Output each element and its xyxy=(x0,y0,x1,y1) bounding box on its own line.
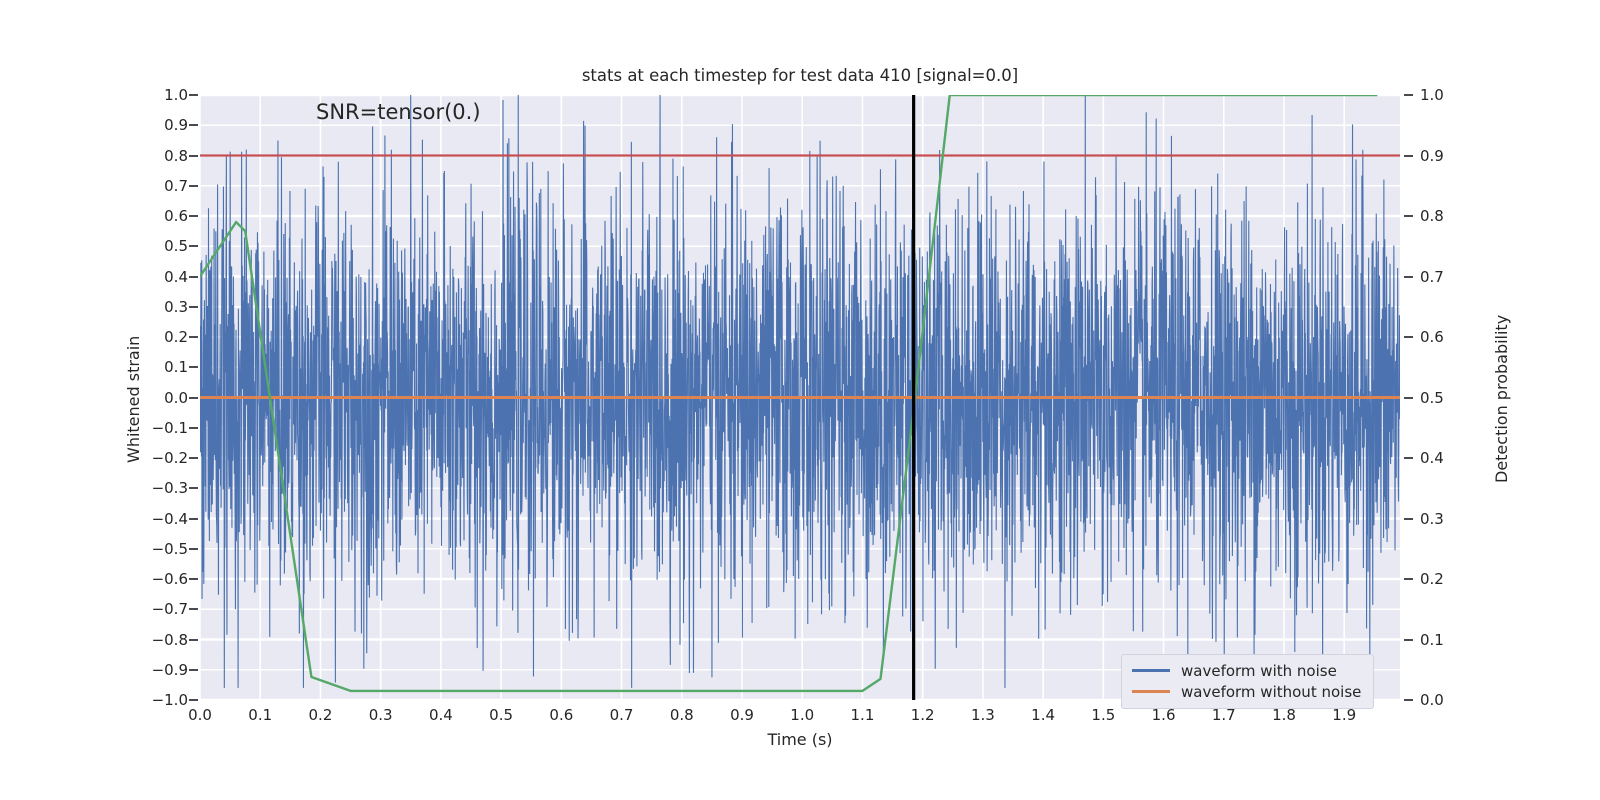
y-tick-mark-left xyxy=(189,306,198,308)
y-tick-mark-right xyxy=(1404,336,1413,338)
y-tick-mark-left xyxy=(189,518,198,520)
y-tick-mark-left xyxy=(189,548,198,550)
y-tick-mark-right xyxy=(1404,155,1413,157)
x-tick-label: 0.4 xyxy=(429,706,453,724)
legend-swatch-icon xyxy=(1132,690,1170,693)
legend-item[interactable]: waveform with noise xyxy=(1132,660,1361,681)
y-tick-label-right: 0.5 xyxy=(1420,389,1444,407)
y-tick-label-right: 0.3 xyxy=(1420,510,1444,528)
y-tick-label-left: −0.4 xyxy=(152,510,188,528)
x-tick-label: 1.3 xyxy=(971,706,995,724)
y-tick-label-right: 0.6 xyxy=(1420,328,1444,346)
y-tick-label-left: 0.0 xyxy=(164,389,188,407)
y-tick-mark-left xyxy=(189,336,198,338)
y-tick-mark-left xyxy=(189,457,198,459)
y-tick-mark-right xyxy=(1404,699,1413,701)
x-tick-label: 0.5 xyxy=(489,706,513,724)
legend-item-label: waveform without noise xyxy=(1181,683,1361,701)
data-layer xyxy=(200,95,1400,700)
y-tick-mark-right xyxy=(1404,518,1413,520)
y-tick-label-left: −0.7 xyxy=(152,600,188,618)
snr-annotation: SNR=tensor(0.) xyxy=(316,100,481,124)
y-tick-label-right: 0.8 xyxy=(1420,207,1444,225)
x-axis-label: Time (s) xyxy=(200,730,1400,749)
y-tick-mark-right xyxy=(1404,276,1413,278)
y-tick-mark-left xyxy=(189,276,198,278)
y-tick-mark-right xyxy=(1404,215,1413,217)
y-tick-mark-left xyxy=(189,245,198,247)
y-tick-label-left: 0.8 xyxy=(164,147,188,165)
y-tick-mark-left xyxy=(189,608,198,610)
y-tick-label-left: 0.7 xyxy=(164,177,188,195)
y-tick-label-left: 0.2 xyxy=(164,328,188,346)
y-tick-mark-right xyxy=(1404,457,1413,459)
y-tick-mark-right xyxy=(1404,94,1413,96)
legend-item[interactable]: waveform without noise xyxy=(1132,681,1361,702)
y-tick-label-left: −0.3 xyxy=(152,479,188,497)
x-tick-label: 0.2 xyxy=(309,706,333,724)
y-tick-mark-right xyxy=(1404,639,1413,641)
plot-area[interactable] xyxy=(200,95,1400,700)
y-tick-mark-left xyxy=(189,366,198,368)
y-tick-label-left: 1.0 xyxy=(164,86,188,104)
y-tick-mark-left xyxy=(189,427,198,429)
y-axis-label-left: Whitened strain xyxy=(124,336,143,463)
y-tick-label-right: 0.0 xyxy=(1420,691,1444,709)
x-tick-label: 1.5 xyxy=(1091,706,1115,724)
figure-canvas: stats at each timestep for test data 410… xyxy=(0,0,1600,800)
x-tick-label: 0.1 xyxy=(248,706,272,724)
y-tick-label-left: −0.5 xyxy=(152,540,188,558)
x-tick-label: 0.8 xyxy=(670,706,694,724)
y-tick-mark-left xyxy=(189,669,198,671)
y-tick-label-left: −0.8 xyxy=(152,631,188,649)
x-tick-label: 0.7 xyxy=(610,706,634,724)
x-tick-label: 0.9 xyxy=(730,706,754,724)
y-tick-mark-left xyxy=(189,185,198,187)
y-tick-label-left: 0.4 xyxy=(164,268,188,286)
y-tick-label-left: −0.1 xyxy=(152,419,188,437)
legend-swatch-icon xyxy=(1132,669,1170,672)
y-tick-mark-left xyxy=(189,124,198,126)
y-tick-mark-left xyxy=(189,215,198,217)
y-tick-mark-left xyxy=(189,397,198,399)
y-tick-mark-right xyxy=(1404,397,1413,399)
y-tick-label-right: 0.7 xyxy=(1420,268,1444,286)
chart-title: stats at each timestep for test data 410… xyxy=(200,66,1400,85)
x-tick-label: 1.2 xyxy=(911,706,935,724)
y-tick-label-left: 0.9 xyxy=(164,116,188,134)
y-tick-label-left: −0.6 xyxy=(152,570,188,588)
y-tick-mark-right xyxy=(1404,578,1413,580)
x-tick-label: 0.0 xyxy=(188,706,212,724)
legend-item-label: waveform with noise xyxy=(1181,662,1337,680)
y-tick-label-left: −0.9 xyxy=(152,661,188,679)
y-tick-label-left: 0.5 xyxy=(164,237,188,255)
x-tick-label: 1.1 xyxy=(851,706,875,724)
y-tick-label-right: 0.2 xyxy=(1420,570,1444,588)
y-tick-mark-left xyxy=(189,155,198,157)
y-tick-label-left: −0.2 xyxy=(152,449,188,467)
legend: waveform with noisewaveform without nois… xyxy=(1121,654,1374,709)
y-tick-label-right: 1.0 xyxy=(1420,86,1444,104)
y-tick-label-left: −1.0 xyxy=(152,691,188,709)
x-tick-label: 1.4 xyxy=(1031,706,1055,724)
y-tick-label-left: 0.1 xyxy=(164,358,188,376)
y-tick-mark-left xyxy=(189,699,198,701)
y-tick-mark-left xyxy=(189,94,198,96)
x-tick-label: 0.3 xyxy=(369,706,393,724)
y-tick-label-left: 0.3 xyxy=(164,298,188,316)
x-tick-label: 1.0 xyxy=(790,706,814,724)
y-tick-label-left: 0.6 xyxy=(164,207,188,225)
y-tick-label-right: 0.9 xyxy=(1420,147,1444,165)
y-tick-mark-left xyxy=(189,487,198,489)
y-tick-mark-left xyxy=(189,578,198,580)
y-tick-label-right: 0.4 xyxy=(1420,449,1444,467)
y-axis-label-right: Detection probability xyxy=(1492,315,1511,483)
x-tick-label: 0.6 xyxy=(549,706,573,724)
y-tick-label-right: 0.1 xyxy=(1420,631,1444,649)
y-tick-mark-left xyxy=(189,639,198,641)
